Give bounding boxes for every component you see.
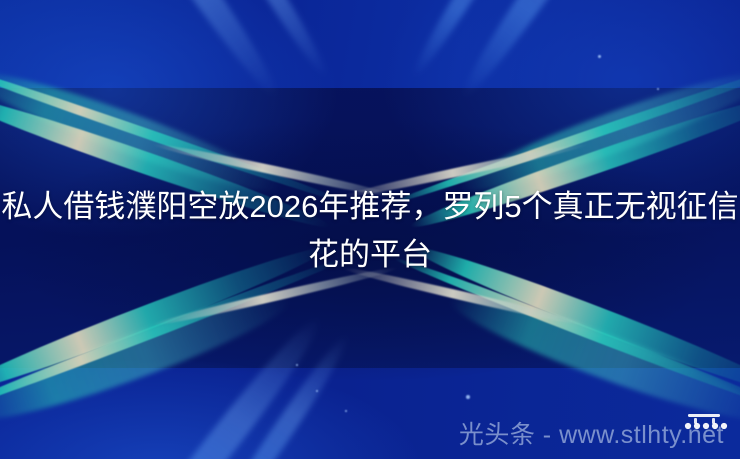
banner-image: 私人借钱濮阳空放2026年推荐，罗列5个真正无视征信花的平台 光头条 - www… [0,0,740,459]
banner-headline: 私人借钱濮阳空放2026年推荐，罗列5个真正无视征信花的平台 [0,183,740,279]
sparkle-dot [345,410,347,412]
watermark-text: 光头条 - www.stlhty.net [459,415,724,451]
sparkle-dot [466,395,470,399]
watermark: 光头条 - www.stlhty.net [459,415,724,451]
sparkle-dot [296,364,298,366]
sparkle-dot [598,55,601,58]
background-band-top [0,0,740,88]
sparkle-dot [657,88,659,90]
sparkle-dot [316,390,318,392]
